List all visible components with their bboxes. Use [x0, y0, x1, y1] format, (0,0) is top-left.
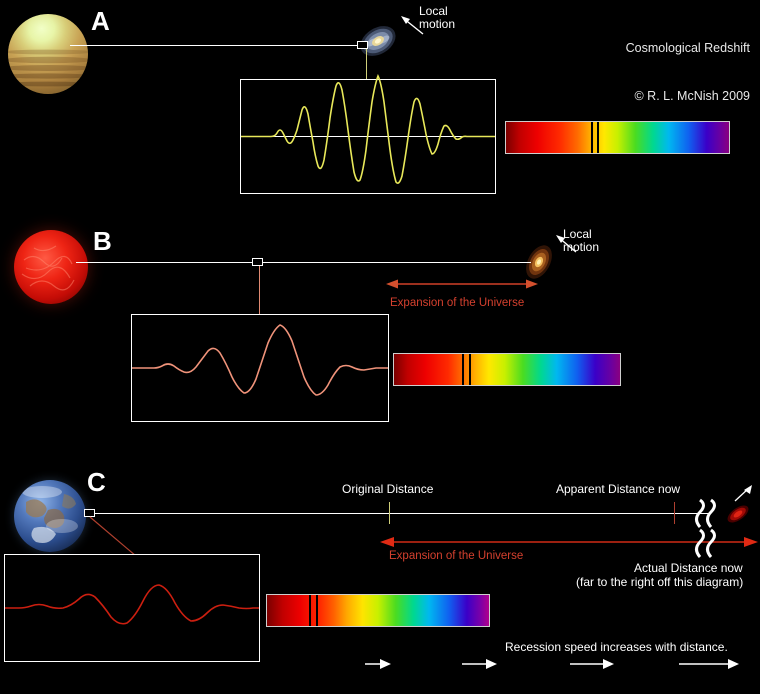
wave-plot-b [132, 315, 388, 421]
absorption-line-a-2 [597, 122, 599, 153]
spectrum-a [505, 121, 730, 154]
sightline-c [86, 513, 710, 514]
planet-earth [14, 480, 86, 552]
spectrum-gradient-b [394, 354, 620, 385]
panel-letter-b: B [93, 226, 112, 257]
expansion-label-c: Expansion of the Universe [389, 550, 523, 562]
wave-box-c [4, 554, 260, 662]
actual-distance-label: Actual Distance now [634, 562, 743, 575]
wave-box-b [131, 314, 389, 422]
absorption-line-c-2 [316, 595, 318, 626]
wave-plot-c [5, 555, 259, 661]
local-motion-arrow-c [731, 483, 759, 505]
connector-b [259, 266, 260, 316]
spectrum-gradient-c [267, 595, 489, 626]
sightline-b [76, 262, 531, 263]
wave-plot-a [241, 80, 495, 193]
spectrum-b [393, 353, 621, 386]
spectrum-c [266, 594, 490, 627]
absorption-line-c-1 [309, 595, 311, 626]
axis-break-icon-top [692, 497, 726, 531]
title-line-1: Cosmological Redshift [626, 40, 750, 56]
absorption-line-b-2 [469, 354, 471, 385]
spectrum-gradient-a [506, 122, 729, 153]
actual-distance-sublabel: (far to the right off this diagram) [576, 576, 743, 589]
absorption-line-b-1 [462, 354, 464, 385]
original-distance-label: Original Distance [342, 483, 433, 496]
panel-letter-c: C [87, 467, 106, 498]
wave-box-a [240, 79, 496, 194]
observation-marker-b [252, 258, 263, 266]
star-red [14, 230, 88, 304]
panel-letter-a: A [91, 6, 110, 37]
title-block: Cosmological Redshift © R. L. McNish 200… [626, 8, 750, 136]
axis-break-icon-bottom [692, 527, 726, 561]
apparent-distance-tick [674, 502, 675, 524]
original-distance-tick [389, 502, 390, 524]
diagram-canvas: Cosmological Redshift © R. L. McNish 200… [0, 0, 760, 694]
connector-a [366, 49, 367, 81]
expansion-label-b: Expansion of the Universe [390, 297, 524, 309]
apparent-distance-label: Apparent Distance now [556, 483, 680, 496]
recession-arrow-group [360, 652, 755, 676]
planet-gas-giant [8, 14, 88, 94]
title-line-2: © R. L. McNish 2009 [626, 88, 750, 104]
absorption-line-a-1 [591, 122, 593, 153]
observation-marker-a [357, 41, 368, 49]
sightline-a [70, 45, 364, 46]
local-motion-label-a: Local motion [419, 5, 455, 31]
local-motion-label-b: Local motion [563, 228, 599, 254]
expansion-arrow-b [386, 275, 538, 293]
